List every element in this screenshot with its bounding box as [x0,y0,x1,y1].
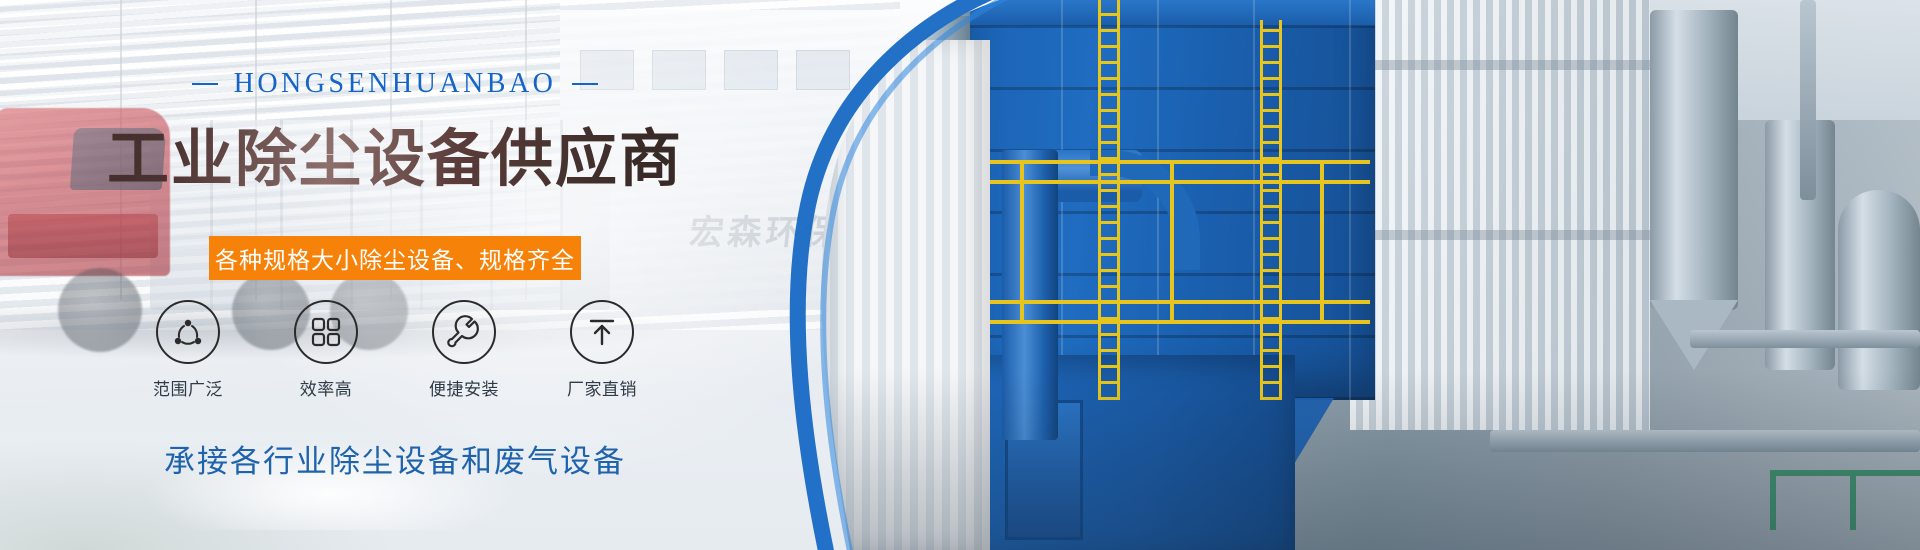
building-band [1350,60,1650,70]
network-nodes-icon [171,315,205,349]
dash-left-icon [192,83,218,85]
feature-label: 厂家直销 [557,375,647,400]
handrail-post [1320,160,1324,320]
promo-banner: 宏森环保 [0,0,1920,550]
grid-squares-icon [310,316,342,348]
orange-badge: 各种规格大小除尘设备、规格齐全 [209,236,581,280]
pipe [1800,0,1816,200]
plant-building [1350,0,1650,430]
handrail-post [1020,160,1024,320]
steel-tank [1650,10,1738,310]
upload-arrow-icon [586,316,618,348]
equipment-photo-panel [790,0,1920,550]
feature-item-efficiency[interactable]: 效率高 [281,300,371,400]
feature-label: 范围广泛 [143,375,233,400]
eyebrow-line: HONGSENHUANBAO [0,68,790,100]
page-title: 工业除尘设备供应商 [0,108,790,198]
building-band [1350,230,1650,240]
banner-content: HONGSENHUANBAO 工业除尘设备供应商 各种规格大小除尘设备、规格齐全 [0,0,790,550]
banner-tagline: 承接各行业除尘设备和废气设备 [0,436,790,481]
photo-bottom-shadow [790,370,1920,550]
access-ladder [1260,20,1282,400]
feature-item-installation[interactable]: 便捷安装 [419,300,509,400]
feature-label: 便捷安装 [419,375,509,400]
feature-icon-circle [432,300,496,364]
feature-item-range[interactable]: 范围广泛 [143,300,233,400]
feature-icon-circle [294,300,358,364]
wrench-icon [447,315,481,349]
eyebrow-text: HONGSENHUANBAO [234,68,557,100]
dash-right-icon [572,83,598,85]
access-ladder [1098,0,1120,400]
pipe [1690,330,1920,348]
feature-list: 范围广泛 效率高 [0,300,790,400]
feature-icon-circle [570,300,634,364]
steel-tank [1838,190,1920,390]
feature-icon-circle [156,300,220,364]
orange-badge-text: 各种规格大小除尘设备、规格齐全 [215,241,575,275]
feature-item-direct-sales[interactable]: 厂家直销 [557,300,647,400]
handrail-post [1170,160,1174,320]
handrail [970,320,1370,324]
feature-label: 效率高 [281,375,371,400]
